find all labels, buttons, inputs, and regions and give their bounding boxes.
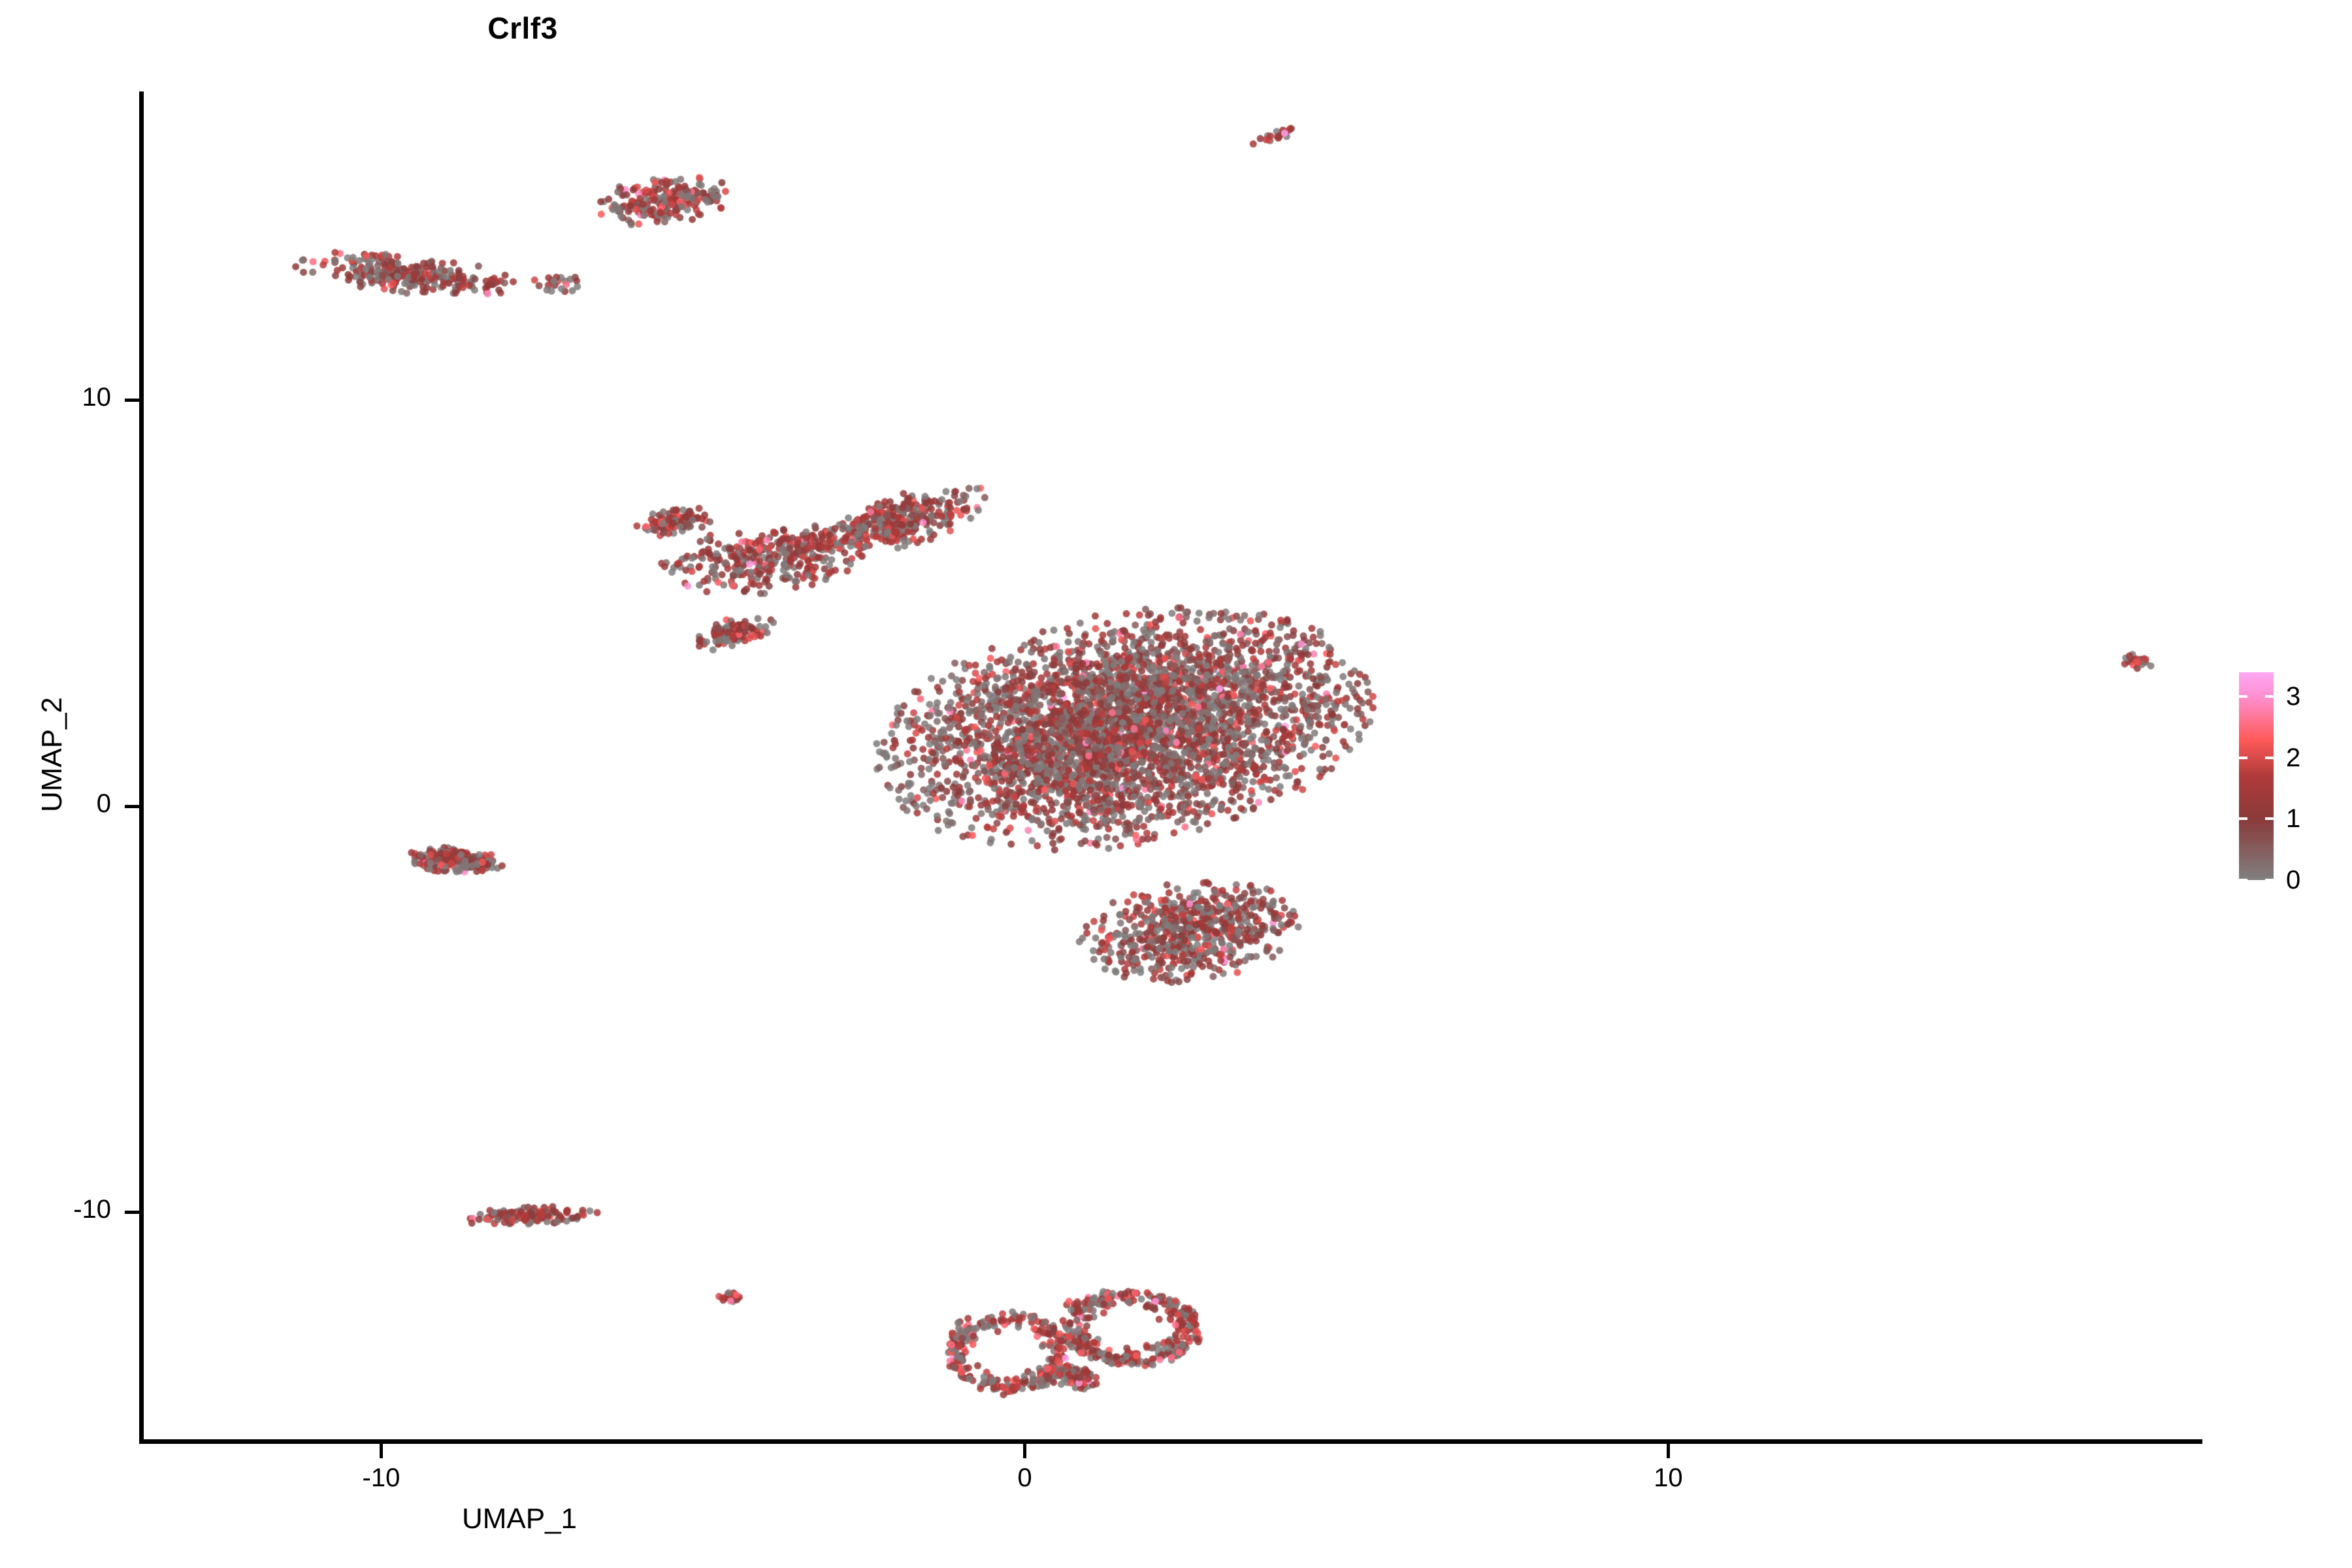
legend-tick-mark — [2265, 879, 2274, 881]
umap-scatter-canvas — [143, 91, 2202, 1439]
legend-tick-label: 2 — [2286, 745, 2300, 771]
x-tick-mark — [1667, 1444, 1670, 1458]
y-tick-mark — [125, 805, 139, 808]
x-tick-label: -10 — [316, 1463, 446, 1493]
y-axis-title-text: UMAP_2 — [36, 697, 68, 812]
x-axis-title: UMAP_1 — [143, 1503, 2202, 1535]
y-tick-label: -10 — [0, 1195, 111, 1224]
x-tick-label: 0 — [959, 1463, 1090, 1493]
legend-tick-mark — [2265, 695, 2274, 698]
page-title: Crlf3 — [0, 13, 2352, 43]
legend-colorbar — [2239, 672, 2274, 880]
y-axis-line — [139, 91, 144, 1444]
legend-tick-mark — [2239, 879, 2247, 881]
x-tick-mark — [1023, 1444, 1026, 1458]
x-axis-line — [139, 1439, 2202, 1444]
color-legend: 3210 — [2239, 672, 2344, 894]
plot-title-text: Crlf3 — [487, 13, 557, 43]
legend-tick-mark — [2265, 757, 2274, 759]
legend-tick-label: 1 — [2286, 806, 2300, 832]
x-tick-mark — [380, 1444, 383, 1458]
legend-tick-label: 0 — [2286, 867, 2300, 893]
feature-plot-root: Crlf3 -10010100-10 UMAP_1 UMAP_2 3210 — [0, 0, 2352, 1568]
y-tick-mark — [125, 399, 139, 402]
scatter-plot-panel — [143, 91, 2202, 1439]
y-tick-mark — [125, 1211, 139, 1214]
legend-tick-mark — [2239, 695, 2247, 698]
x-axis-title-text: UMAP_1 — [462, 1503, 577, 1535]
legend-tick-mark — [2265, 817, 2274, 820]
legend-tick-mark — [2239, 817, 2247, 820]
legend-tick-mark — [2239, 757, 2247, 759]
y-axis-title: UMAP_2 — [36, 363, 69, 1147]
legend-tick-label: 3 — [2286, 683, 2300, 710]
x-tick-label: 10 — [1603, 1463, 1733, 1493]
